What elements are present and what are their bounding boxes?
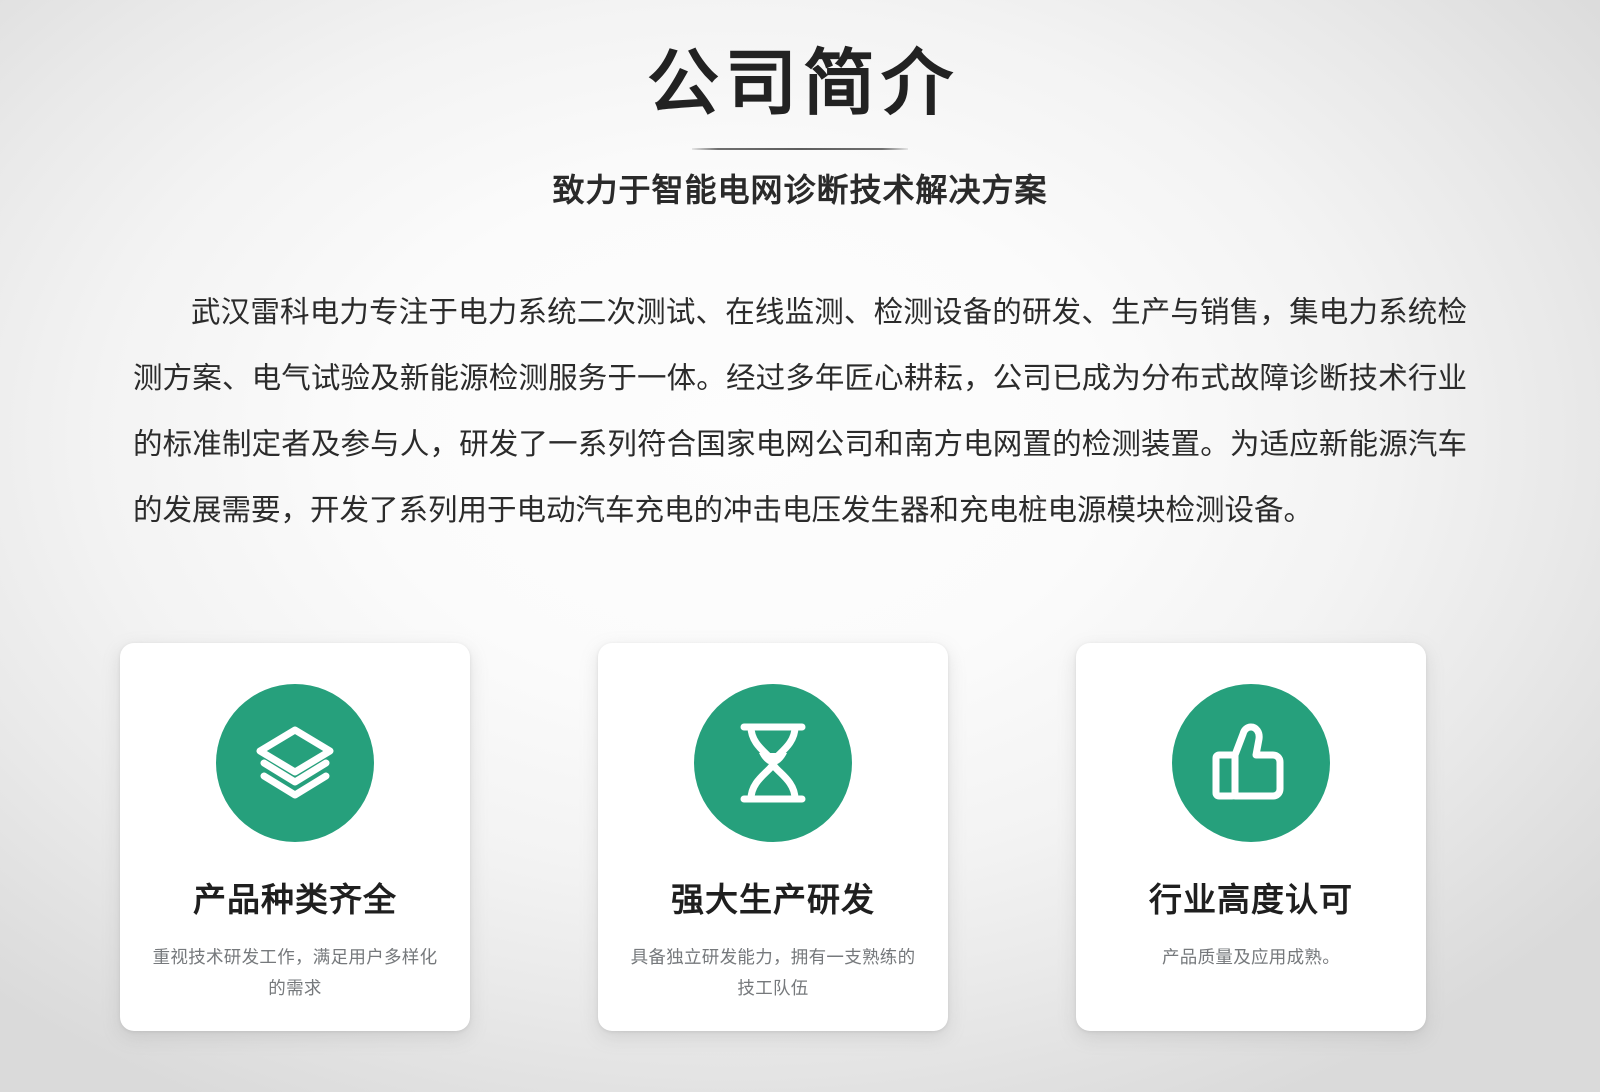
page-subtitle: 致力于智能电网诊断技术解决方案 — [0, 150, 1600, 206]
feature-card-products[interactable]: 产品种类齐全 重视技术研发工作，满足用户多样化的需求 — [120, 643, 470, 1031]
feature-card-rnd[interactable]: 强大生产研发 具备独立研发能力，拥有一支熟练的技工队伍 — [598, 643, 948, 1031]
thumbs-up-icon-badge — [1172, 684, 1330, 842]
page-header: 公司简介 致力于智能电网诊断技术解决方案 — [0, 0, 1600, 206]
page-title: 公司简介 — [0, 0, 1600, 120]
hourglass-icon-badge — [694, 684, 852, 842]
feature-card-list: 产品种类齐全 重视技术研发工作，满足用户多样化的需求 — [120, 643, 1426, 1031]
feature-card-description: 产品质量及应用成熟。 — [1106, 918, 1396, 973]
hourglass-icon — [734, 720, 812, 806]
feature-card-title: 强大生产研发 — [671, 842, 875, 918]
feature-card-description: 重视技术研发工作，满足用户多样化的需求 — [150, 918, 440, 1004]
thumbs-up-icon — [1209, 720, 1293, 806]
feature-card-title: 产品种类齐全 — [193, 842, 397, 918]
feature-card-recognition[interactable]: 行业高度认可 产品质量及应用成熟。 — [1076, 643, 1426, 1031]
feature-card-title: 行业高度认可 — [1149, 842, 1353, 918]
company-intro-paragraph: 武汉雷科电力专注于电力系统二次测试、在线监测、检测设备的研发、生产与销售，集电力… — [133, 280, 1467, 544]
layers-icon — [252, 720, 338, 806]
company-profile-page: 公司简介 致力于智能电网诊断技术解决方案 武汉雷科电力专注于电力系统二次测试、在… — [0, 0, 1600, 1092]
layers-icon-badge — [216, 684, 374, 842]
feature-card-description: 具备独立研发能力，拥有一支熟练的技工队伍 — [628, 918, 918, 1004]
